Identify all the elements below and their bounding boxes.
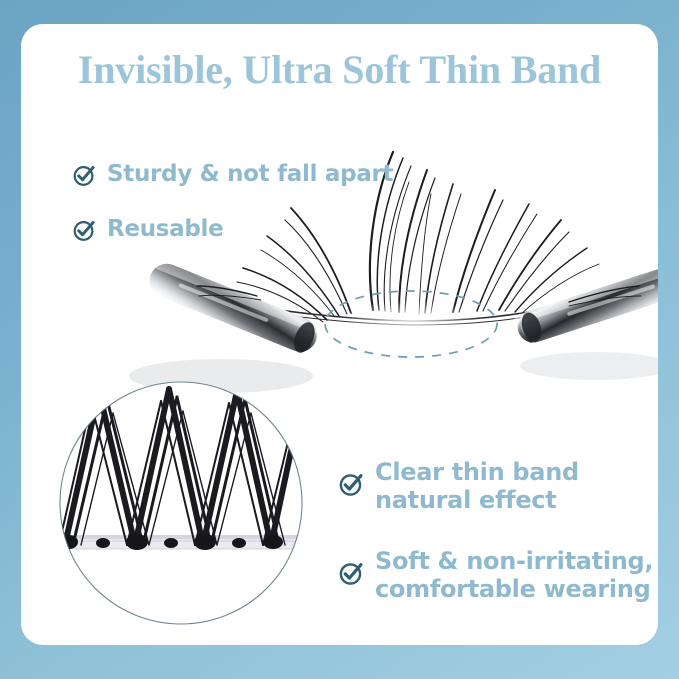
- feature-item-sturdy: Sturdy & not fall apart: [73, 161, 393, 188]
- poster-canvas: Invisible, Ultra Soft Thin Band Sturdy &…: [0, 0, 679, 679]
- check-circle-icon: [73, 164, 96, 187]
- feature-item-clear-band: Clear thin band natural effect: [339, 458, 579, 514]
- check-circle-icon: [73, 219, 96, 242]
- content-card: Invisible, Ultra Soft Thin Band Sturdy &…: [21, 24, 658, 645]
- tweezer-left: [144, 259, 322, 357]
- feature-label: Reusable: [107, 216, 223, 243]
- feature-label: Sturdy & not fall apart: [107, 161, 393, 188]
- tweezer-right: [513, 259, 658, 347]
- page-title: Invisible, Ultra Soft Thin Band: [21, 46, 658, 93]
- check-circle-icon: [339, 472, 364, 497]
- dashed-ellipse-highlight: [325, 291, 497, 357]
- feature-label: Soft & non-irritating, comfortable weari…: [375, 547, 653, 603]
- feature-item-soft: Soft & non-irritating, comfortable weari…: [339, 547, 653, 603]
- feature-item-reusable: Reusable: [73, 216, 223, 243]
- check-circle-icon: [339, 561, 364, 586]
- feature-label: Clear thin band natural effect: [375, 458, 579, 514]
- band-closeup-circle: [57, 379, 305, 627]
